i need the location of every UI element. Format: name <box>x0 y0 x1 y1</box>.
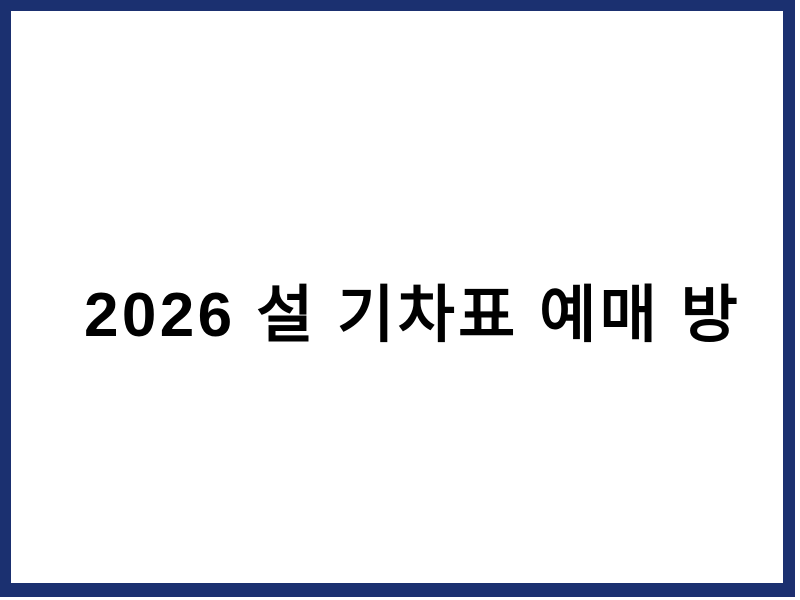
headline-text: 2026 설 기차표 예매 방 <box>84 279 784 352</box>
card-content-area: 2026 설 기차표 예매 방 <box>11 11 783 583</box>
navy-border-frame: 2026 설 기차표 예매 방 <box>0 0 795 597</box>
thumbnail-canvas: 2026 설 기차표 예매 방 <box>0 0 800 600</box>
